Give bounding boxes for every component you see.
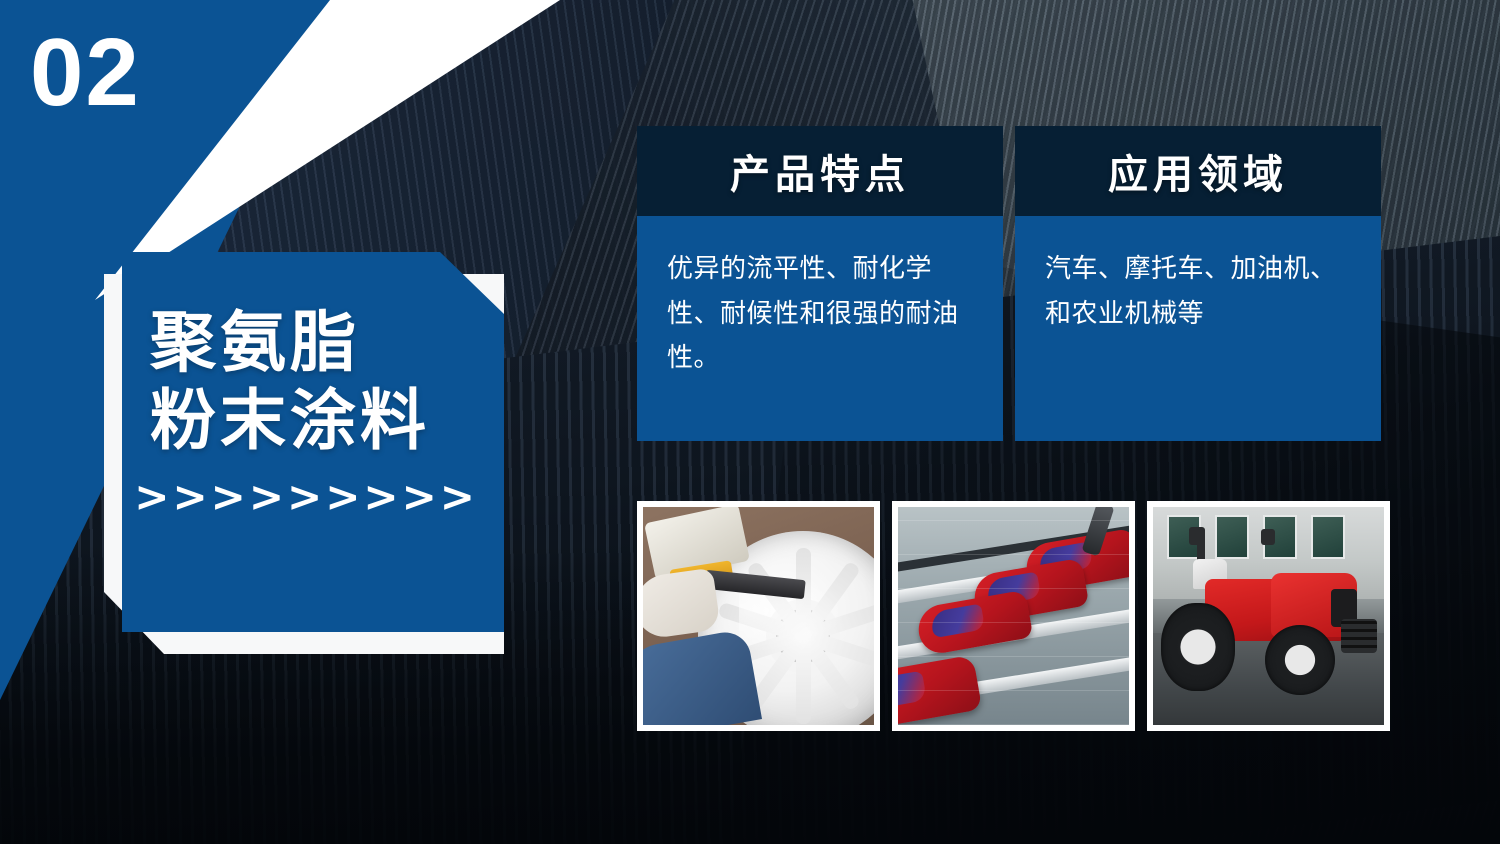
card-header-product-features: 产品特点 bbox=[637, 126, 1003, 216]
tractor-front-weights bbox=[1341, 619, 1377, 653]
tractor-mirror-right bbox=[1261, 529, 1275, 545]
section-number: 02 bbox=[30, 18, 141, 128]
card-body-text: 汽车、摩托车、加油机、和农业机械等 bbox=[1045, 246, 1355, 335]
card-body-text: 优异的流平性、耐化学性、耐候性和很强的耐油性。 bbox=[667, 246, 977, 380]
content-panel: 产品特点 优异的流平性、耐化学性、耐候性和很强的耐油性。 应用领域 汽车、摩托车… bbox=[637, 126, 1395, 731]
photo-frame-coating-line bbox=[892, 501, 1135, 731]
title-line-1: 聚氨脂 bbox=[122, 304, 504, 382]
motorcycle-tank-coating-line-photo bbox=[898, 507, 1129, 725]
photo-frame-tractor bbox=[1147, 501, 1390, 731]
worker-sleeve bbox=[643, 628, 762, 725]
booth-glass-overlay bbox=[898, 507, 1129, 725]
card-header-application-fields: 应用领域 bbox=[1015, 126, 1381, 216]
photo-frame-wheel-rim bbox=[637, 501, 880, 731]
photo-strip bbox=[637, 501, 1395, 731]
card-application-fields: 应用领域 汽车、摩托车、加油机、和农业机械等 bbox=[1015, 126, 1381, 441]
tractor-rear-wheel bbox=[1161, 603, 1235, 691]
tractor-front-wheel bbox=[1265, 625, 1335, 695]
card-product-features: 产品特点 优异的流平性、耐化学性、耐候性和很强的耐油性。 bbox=[637, 126, 1003, 441]
info-cards-row: 产品特点 优异的流平性、耐化学性、耐候性和很强的耐油性。 应用领域 汽车、摩托车… bbox=[637, 126, 1395, 441]
card-body-application-fields: 汽车、摩托车、加油机、和农业机械等 bbox=[1015, 216, 1381, 441]
title-line-2: 粉末涂料 bbox=[122, 382, 504, 460]
chevron-arrows-icon: >>>>>>>>> bbox=[122, 472, 504, 521]
wheel-rim-powder-coating-photo bbox=[643, 507, 874, 725]
slide-canvas: 02 聚氨脂 粉末涂料 >>>>>>>>> 产品特点 优异的流平性、耐化学性、耐… bbox=[0, 0, 1500, 844]
title-card: 聚氨脂 粉末涂料 >>>>>>>>> bbox=[122, 252, 504, 632]
card-heading-text: 产品特点 bbox=[730, 142, 910, 200]
card-body-product-features: 优异的流平性、耐化学性、耐候性和很强的耐油性。 bbox=[637, 216, 1003, 441]
red-tractor-photo bbox=[1153, 507, 1384, 725]
card-heading-text: 应用领域 bbox=[1108, 142, 1288, 200]
